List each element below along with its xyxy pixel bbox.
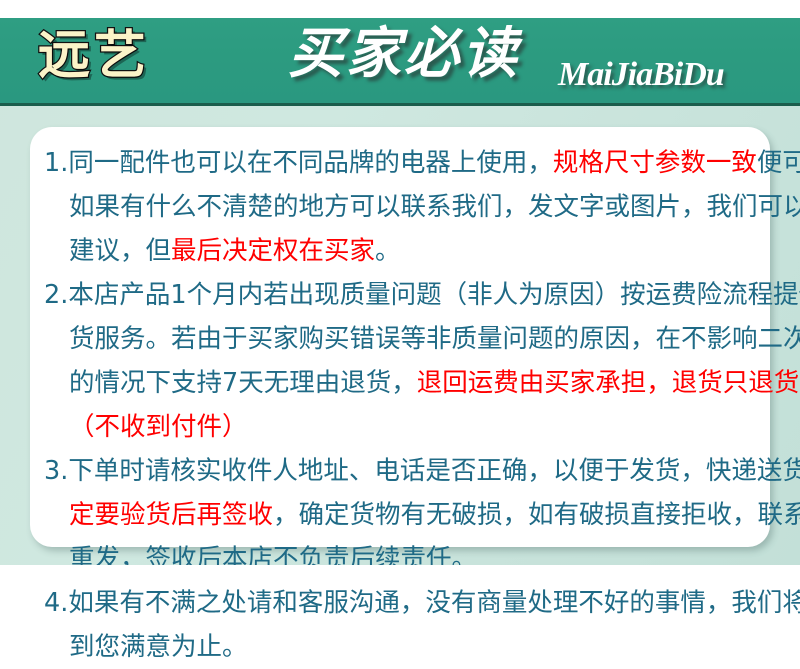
notice-text-highlight: 退回运费由买家承担，退货只退货款 — [417, 368, 800, 398]
notice-text: 如果有什么不清楚的地方可以联系我们，发文字或图片，我们可以提供 — [69, 192, 800, 222]
notice-item: 1.同一配件也可以在不同品牌的电器上使用，规格尺寸参数一致便可通用。如果有什么不… — [44, 141, 762, 273]
notice-text: 如果有不满之处请和客服沟通，没有商量处理不好的事情，我们将服务 — [68, 588, 800, 618]
notice-line: 的情况下支持7天无理由退货，退回运费由买家承担，退货只退货款。 — [44, 361, 762, 405]
bottom-white-strip — [0, 565, 800, 585]
notice-card: 1.同一配件也可以在不同品牌的电器上使用，规格尺寸参数一致便可通用。如果有什么不… — [30, 127, 770, 547]
notice-text: 货服务。若由于买家购买错误等非质量问题的原因，在不影响二次销售 — [69, 324, 800, 354]
notice-item-number: 4. — [44, 588, 68, 618]
notice-text: 同一配件也可以在不同品牌的电器上使用， — [68, 148, 553, 178]
banner-title: 买家必读 — [288, 26, 520, 81]
notice-text: 便可通用。 — [757, 148, 800, 178]
notice-line: 1.同一配件也可以在不同品牌的电器上使用，规格尺寸参数一致便可通用。 — [44, 141, 762, 185]
notice-text-highlight: 最后决定权在买家 — [171, 236, 375, 266]
notice-text: ，确定货物有无破损，如有破损直接拒收，联系我们 — [273, 500, 800, 530]
notice-line: 4.如果有不满之处请和客服沟通，没有商量处理不好的事情，我们将服务 — [44, 581, 762, 625]
notice-text-highlight: （不收到付件） — [69, 412, 248, 442]
notice-item-number: 2. — [44, 280, 68, 310]
notice-line: 货服务。若由于买家购买错误等非质量问题的原因，在不影响二次销售 — [44, 317, 762, 361]
notice-item: 2.本店产品1个月内若出现质量问题（非人为原因）按运费险流程提供退换货服务。若由… — [44, 273, 762, 449]
notice-item: 4.如果有不满之处请和客服沟通，没有商量处理不好的事情，我们将服务到您满意为止。 — [44, 581, 762, 669]
banner-pinyin: MaiJiaBiDu — [558, 58, 724, 92]
top-white-strip — [0, 0, 800, 18]
notice-line: 定要验货后再签收，确定货物有无破损，如有破损直接拒收，联系我们 — [44, 493, 762, 537]
notice-line: （不收到付件） — [44, 405, 762, 449]
notice-line: 到您满意为止。 — [44, 625, 762, 669]
page-root: 远艺 买家必读 MaiJiaBiDu 1.同一配件也可以在不同品牌的电器上使用，… — [0, 0, 800, 585]
notice-line: 3.下单时请核实收件人地址、电话是否正确，以便于发货，快递送货时一 — [44, 449, 762, 493]
notice-line: 如果有什么不清楚的地方可以联系我们，发文字或图片，我们可以提供 — [44, 185, 762, 229]
notice-text-highlight: 定要验货后再签收 — [69, 500, 273, 530]
notice-line: 建议，但最后决定权在买家。 — [44, 229, 762, 273]
notice-text: 的情况下支持7天无理由退货， — [69, 368, 417, 398]
notice-item-number: 1. — [44, 148, 68, 178]
notice-list: 1.同一配件也可以在不同品牌的电器上使用，规格尺寸参数一致便可通用。如果有什么不… — [44, 141, 762, 669]
notice-line: 2.本店产品1个月内若出现质量问题（非人为原因）按运费险流程提供退换 — [44, 273, 762, 317]
notice-text: 到您满意为止。 — [69, 632, 248, 662]
notice-item: 3.下单时请核实收件人地址、电话是否正确，以便于发货，快递送货时一定要验货后再签… — [44, 449, 762, 581]
notice-text: 。 — [375, 236, 401, 266]
brand-logo: 远艺 — [38, 30, 150, 82]
notice-text: 建议，但 — [69, 236, 171, 266]
notice-text: 本店产品1个月内若出现质量问题（非人为原因）按运费险流程提供退换 — [68, 280, 800, 310]
notice-text: 下单时请核实收件人地址、电话是否正确，以便于发货，快递送货时 — [68, 456, 800, 486]
notice-item-number: 3. — [44, 456, 68, 486]
header-banner: 远艺 买家必读 MaiJiaBiDu — [0, 18, 800, 106]
notice-text-highlight: 规格尺寸参数一致 — [553, 148, 757, 178]
